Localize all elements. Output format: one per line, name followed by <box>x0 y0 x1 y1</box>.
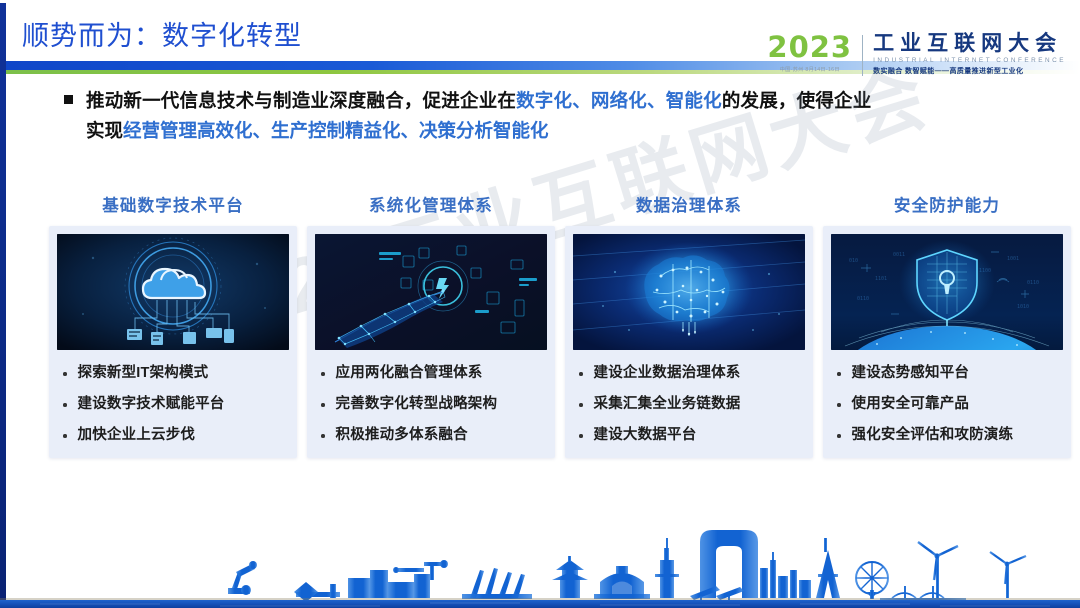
cloud-computing-image <box>57 234 289 350</box>
lead-paragraph: 推动新一代信息技术与制造业深度融合，促进企业在数字化、网络化、智能化的发展，使得… <box>64 86 1054 146</box>
card-body: 探索新型IT架构模式 建设数字技术赋能平台 加快企业上云步伐 <box>49 226 297 458</box>
list-item-label: 强化安全评估和攻防演练 <box>852 426 1014 444</box>
list-item-label: 加快企业上云步伐 <box>78 426 196 444</box>
list-item: 应用两化融合管理体系 <box>321 364 545 382</box>
card-bullet-list: 建设态势感知平台 使用安全可靠产品 强化安全评估和攻防演练 <box>823 364 1071 444</box>
bullet-dot-icon <box>837 372 841 376</box>
list-item: 建设数字技术赋能平台 <box>63 395 287 413</box>
lead-line2-part1: 实现 <box>86 120 123 141</box>
lead-line-1: 推动新一代信息技术与制造业深度融合，促进企业在数字化、网络化、智能化的发展，使得… <box>86 86 871 116</box>
list-item-label: 探索新型IT架构模式 <box>78 364 209 382</box>
lead-line1-part2: 的发展，使得企业 <box>722 90 872 111</box>
conference-logo: 2023 中国·苏州 8月14日-16日 工业互联网大会 INDUSTRIAL … <box>767 33 1066 76</box>
list-item: 加快企业上云步伐 <box>63 426 287 444</box>
list-item: 探索新型IT架构模式 <box>63 364 287 382</box>
logo-year-block: 2023 中国·苏州 8月14日-16日 <box>767 33 852 73</box>
list-item: 积极推动多体系融合 <box>321 426 545 444</box>
card-grid: 基础数字技术平台 <box>49 192 1053 458</box>
list-item-label: 建设企业数据治理体系 <box>594 364 741 382</box>
bullet-dot-icon <box>63 403 67 407</box>
bullet-dot-icon <box>837 434 841 438</box>
list-item: 建设大数据平台 <box>579 426 803 444</box>
slide-root: 顺势而为：数字化转型 2023 中国·苏州 8月14日-16日 工业互联网大会 … <box>0 0 1080 608</box>
svg-text:0110: 0110 <box>857 296 869 302</box>
svg-text:1101: 1101 <box>875 276 887 282</box>
list-item-label: 建设态势感知平台 <box>852 364 970 382</box>
top-edge <box>0 0 1080 3</box>
list-item-label: 建设数字技术赋能平台 <box>78 395 225 413</box>
card-basic-digital-platform: 基础数字技术平台 <box>49 192 297 458</box>
card-body: 应用两化融合管理体系 完善数字化转型战略架构 积极推动多体系融合 <box>307 226 555 458</box>
bullet-dot-icon <box>63 372 67 376</box>
logo-slogan: 数实融合 数智赋能——高质量推进新型工业化 <box>873 66 1066 76</box>
list-item: 使用安全可靠产品 <box>837 395 1061 413</box>
card-title: 安全防护能力 <box>894 192 1000 216</box>
city-industry-skyline-silhouette <box>0 512 1080 608</box>
list-item: 完善数字化转型战略架构 <box>321 395 545 413</box>
list-item: 建设态势感知平台 <box>837 364 1061 382</box>
card-body: 01011010110 100101101010 00111100 <box>823 226 1071 458</box>
list-item: 建设企业数据治理体系 <box>579 364 803 382</box>
list-item-label: 完善数字化转型战略架构 <box>336 395 498 413</box>
bullet-dot-icon <box>63 434 67 438</box>
card-bullet-list: 探索新型IT架构模式 建设数字技术赋能平台 加快企业上云步伐 <box>49 364 297 444</box>
bullet-dot-icon <box>579 403 583 407</box>
card-body: 建设企业数据治理体系 采集汇集全业务链数据 建设大数据平台 <box>565 226 813 458</box>
logo-name-en: INDUSTRIAL INTERNET CONFERENCE <box>873 57 1066 64</box>
page-title: 顺势而为：数字化转型 <box>22 14 302 53</box>
bullet-dot-icon <box>837 403 841 407</box>
card-bullet-list: 建设企业数据治理体系 采集汇集全业务链数据 建设大数据平台 <box>565 364 813 444</box>
svg-text:0011: 0011 <box>893 252 905 258</box>
card-data-governance: 数据治理体系 <box>565 192 813 458</box>
bullet-dot-icon <box>321 434 325 438</box>
logo-year: 2023 <box>767 33 852 62</box>
list-item-label: 积极推动多体系融合 <box>336 426 468 444</box>
bullet-dot-icon <box>579 434 583 438</box>
list-item-label: 建设大数据平台 <box>594 426 697 444</box>
card-title: 系统化管理体系 <box>369 192 493 216</box>
list-item-label: 使用安全可靠产品 <box>852 395 970 413</box>
svg-text:1001: 1001 <box>1007 256 1019 262</box>
security-shield-globe-image: 01011010110 100101101010 00111100 <box>831 234 1063 350</box>
list-item-label: 采集汇集全业务链数据 <box>594 395 741 413</box>
svg-text:010: 010 <box>849 258 858 264</box>
list-item-label: 应用两化融合管理体系 <box>336 364 483 382</box>
bullet-dot-icon <box>579 372 583 376</box>
lead-line1-part1: 推动新一代信息技术与制造业深度融合，促进企业在 <box>86 90 516 111</box>
digital-brain-image <box>573 234 805 350</box>
lead-line1-highlight: 数字化、网络化、智能化 <box>516 90 722 111</box>
logo-divider <box>862 35 863 76</box>
bullet-dot-icon <box>321 403 325 407</box>
card-security-protection: 安全防护能力 <box>823 192 1071 458</box>
logo-year-subtitle: 中国·苏州 8月14日-16日 <box>780 66 840 73</box>
svg-text:1010: 1010 <box>1017 304 1029 310</box>
card-title: 基础数字技术平台 <box>102 192 244 216</box>
card-systematic-management: 系统化管理体系 <box>307 192 555 458</box>
logo-name-block: 工业互联网大会 INDUSTRIAL INTERNET CONFERENCE 数… <box>873 33 1066 76</box>
square-bullet-icon <box>64 95 73 104</box>
digital-hand-interface-image <box>315 234 547 350</box>
card-bullet-list: 应用两化融合管理体系 完善数字化转型战略架构 积极推动多体系融合 <box>307 364 555 444</box>
bullet-dot-icon <box>321 372 325 376</box>
svg-text:0110: 0110 <box>1027 280 1039 286</box>
list-item: 强化安全评估和攻防演练 <box>837 426 1061 444</box>
logo-name-cn: 工业互联网大会 <box>873 33 1066 55</box>
lead-line2-highlight: 经营管理高效化、生产控制精益化、决策分析智能化 <box>123 120 549 141</box>
list-item: 采集汇集全业务链数据 <box>579 395 803 413</box>
card-title: 数据治理体系 <box>636 192 742 216</box>
lead-line-2: 实现经营管理高效化、生产控制精益化、决策分析智能化 <box>86 116 1054 146</box>
